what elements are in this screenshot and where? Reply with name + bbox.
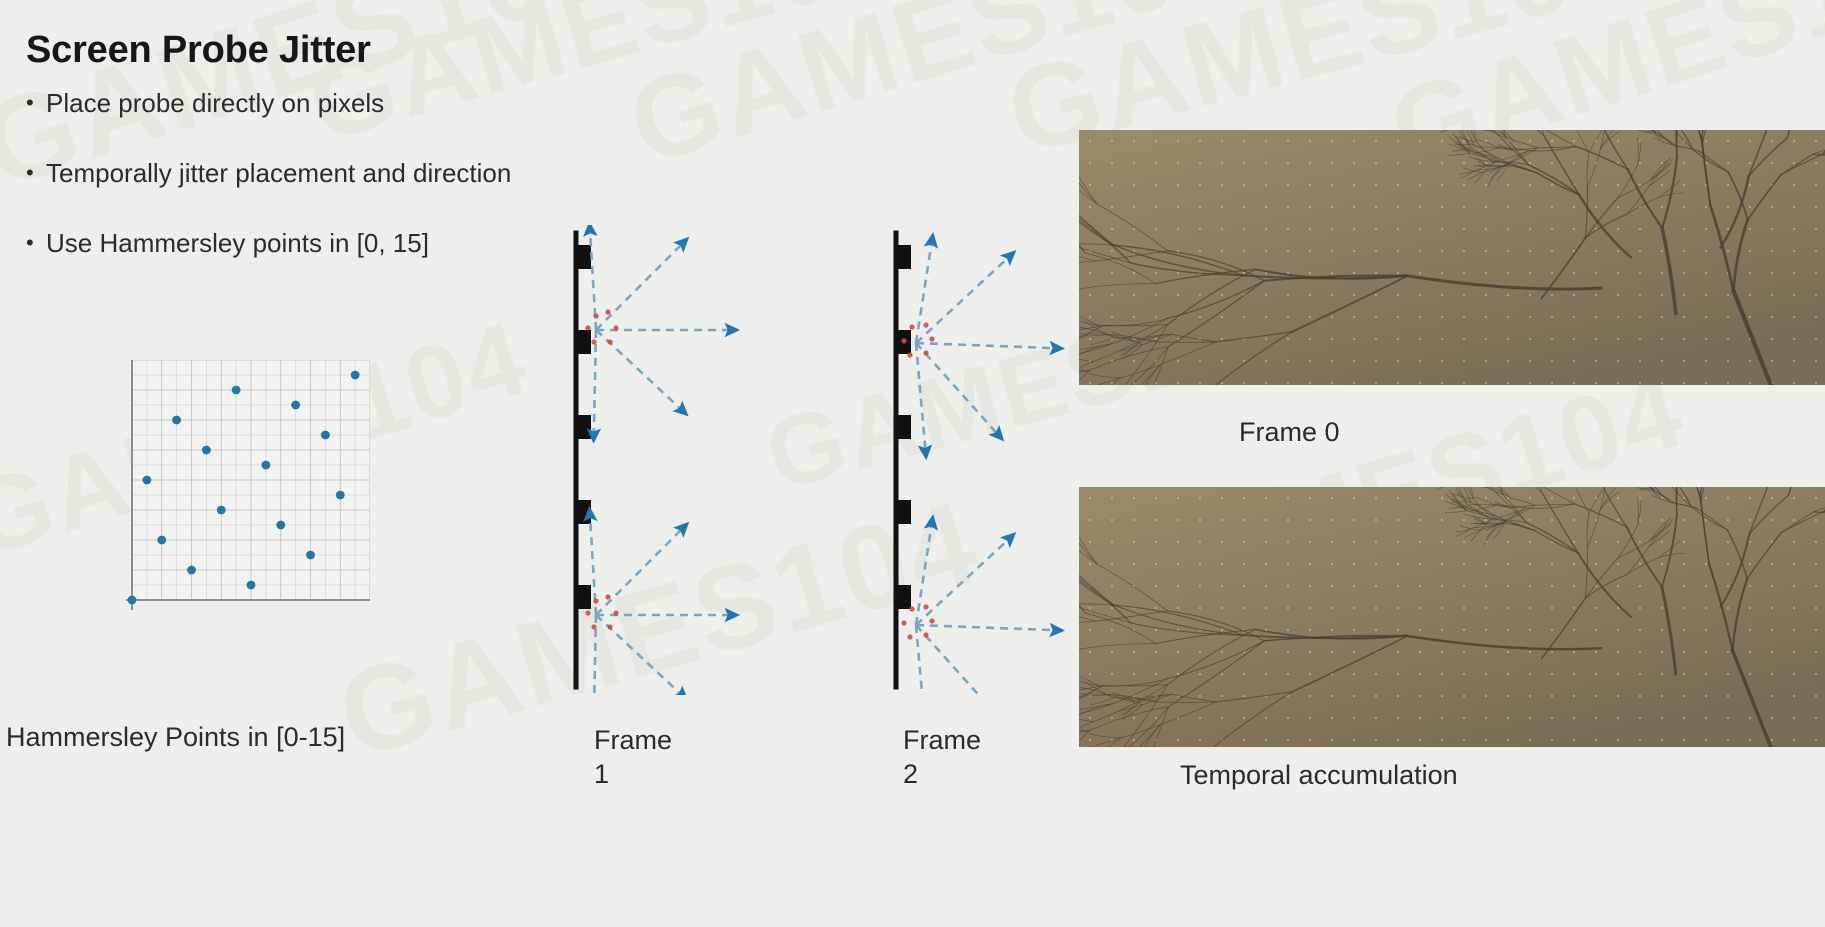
- probe-sample-dot: [923, 350, 928, 355]
- pixel-block: [577, 415, 591, 439]
- scatter-point: [142, 476, 151, 485]
- probe-sample-dot: [607, 624, 612, 629]
- scatter-point: [261, 461, 270, 470]
- scatter-point: [202, 446, 211, 455]
- scatter-point: [291, 401, 300, 410]
- scatter-point: [217, 506, 226, 515]
- render-frame0-svg: [1079, 130, 1825, 385]
- pixel-block: [897, 585, 911, 609]
- scatter-point: [276, 521, 285, 530]
- frame-1-svg: [560, 225, 800, 695]
- probe-sample-dot: [901, 620, 906, 625]
- probe-sample-dot: [901, 338, 906, 343]
- scatter-point: [128, 596, 137, 605]
- pixel-block: [897, 500, 911, 524]
- probe-sample-dot: [929, 618, 934, 623]
- scatter-point: [157, 536, 166, 545]
- probe-sample-dot: [585, 610, 590, 615]
- probe-ray-arrow: [916, 236, 933, 343]
- screen-probe-dot-grid: [1079, 487, 1825, 747]
- scatter-point: [321, 431, 330, 440]
- probe-sample-dot: [605, 594, 610, 599]
- render-frame0-image: [1079, 130, 1825, 385]
- list-item: • Place probe directly on pixels: [26, 88, 626, 118]
- probe-sample-dot: [923, 322, 928, 327]
- bullet-marker-icon: •: [26, 228, 46, 258]
- probe-sample-dot: [585, 325, 590, 330]
- probe-ray-arrow: [594, 330, 596, 440]
- bullet-marker-icon: •: [26, 158, 46, 188]
- scatter-point: [336, 491, 345, 500]
- probe-ray-arrow: [916, 343, 926, 456]
- pixel-block: [897, 245, 911, 269]
- probe-sample-dot: [607, 339, 612, 344]
- probe-ray-arrow: [916, 343, 1061, 348]
- scatter-point: [172, 416, 181, 425]
- probe-sample-dot: [929, 336, 934, 341]
- render-accumulation-image: [1079, 487, 1825, 747]
- render-accumulation-svg: [1079, 487, 1825, 747]
- frame-1-probe-diagram: [560, 225, 800, 695]
- probe-sample-dot: [613, 325, 618, 330]
- bullet-text: Temporally jitter placement and directio…: [46, 158, 511, 188]
- list-item: • Temporally jitter placement and direct…: [26, 158, 626, 188]
- scatter-point: [232, 386, 241, 395]
- scatter-point: [247, 581, 256, 590]
- pixel-block: [897, 415, 911, 439]
- probe-sample-dot: [909, 606, 914, 611]
- probe-sample-dot: [591, 339, 596, 344]
- probe-ray-arrow: [916, 625, 1061, 630]
- frame-2-label: Frame 2: [903, 723, 981, 791]
- probe-sample-dot: [907, 352, 912, 357]
- probe-ray-arrow: [916, 343, 1001, 438]
- probe-sample-dot: [593, 313, 598, 318]
- slide-canvas: Screen Probe Jitter • Place probe direct…: [0, 0, 1825, 927]
- frame-1-label-line2: 1: [594, 757, 672, 791]
- screen-probe-dot-grid: [1079, 130, 1825, 385]
- bullet-list: • Place probe directly on pixels • Tempo…: [26, 88, 626, 298]
- probe-sample-dot: [923, 632, 928, 637]
- bullet-marker-icon: •: [26, 88, 46, 118]
- probe-sample-dot: [909, 324, 914, 329]
- probe-sample-dot: [605, 309, 610, 314]
- probe-sample-dot: [923, 604, 928, 609]
- scatter-plot-svg: [120, 360, 370, 610]
- list-item: • Use Hammersley points in [0, 15]: [26, 228, 626, 258]
- probe-ray-arrow: [916, 625, 1001, 695]
- probe-ray-arrow: [916, 253, 1013, 343]
- bullet-text: Place probe directly on pixels: [46, 88, 384, 118]
- probe-ray-arrow: [596, 240, 686, 330]
- render-frame0-caption: Frame 0: [1239, 417, 1340, 448]
- scatter-point: [187, 566, 196, 575]
- probe-sample-dot: [593, 598, 598, 603]
- frame-2-label-line2: 2: [903, 757, 981, 791]
- scatter-plot-caption: Hammersley Points in [0-15]: [6, 722, 345, 753]
- bullet-text: Use Hammersley points in [0, 15]: [46, 228, 429, 258]
- probe-ray-arrow: [596, 525, 686, 615]
- probe-sample-dot: [907, 634, 912, 639]
- probe-ray-arrow: [916, 518, 933, 625]
- page-title: Screen Probe Jitter: [26, 29, 371, 72]
- scatter-point: [351, 371, 360, 380]
- scatter-point: [306, 551, 315, 560]
- render-accumulation-caption: Temporal accumulation: [1180, 760, 1458, 791]
- probe-sample-dot: [591, 624, 596, 629]
- frame-1-label: Frame 1: [594, 723, 672, 791]
- pixel-block: [577, 330, 591, 354]
- frame-1-label-line1: Frame: [594, 723, 672, 757]
- probe-ray-arrow: [916, 535, 1013, 625]
- pixel-block: [577, 245, 591, 269]
- hammersley-scatter-plot: [120, 360, 370, 610]
- frame-2-label-line1: Frame: [903, 723, 981, 757]
- probe-sample-dot: [613, 610, 618, 615]
- pixel-block: [577, 585, 591, 609]
